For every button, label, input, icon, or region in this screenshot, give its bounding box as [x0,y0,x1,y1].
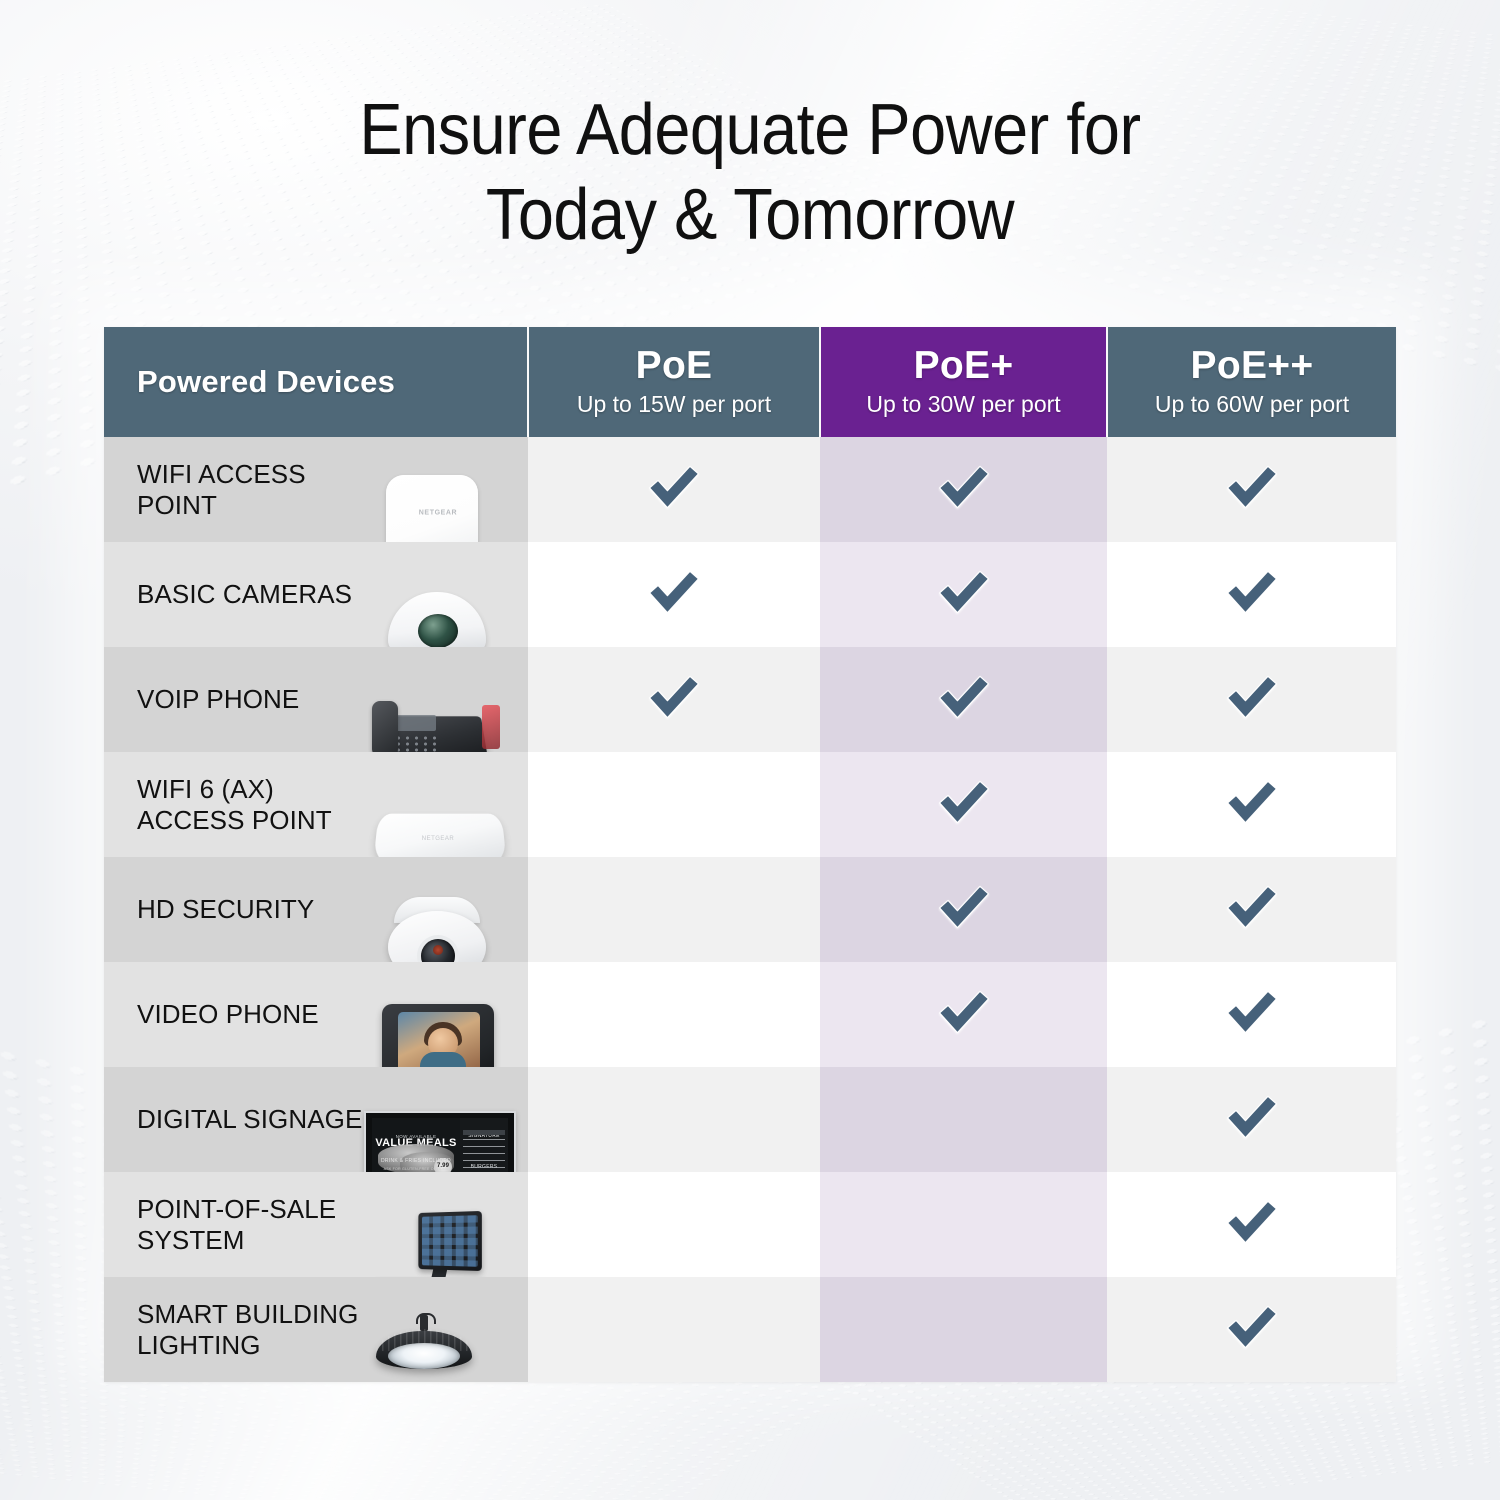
device-thumbnail: NETGEAR [358,757,518,853]
device-label: WIFI 6 (AX) ACCESS POINT [137,774,332,835]
netgear-logo-small: NETGEAR [422,824,455,855]
checkmark-icon [1222,1087,1282,1147]
device-label: VOIP PHONE [137,684,299,714]
checkmark-icon [1222,982,1282,1042]
column-header-poe-subtitle: Up to 15W per port [529,389,819,419]
device-thumbnail: NOW AVAILABLE VALUE MEALS 7.99 DRINK & F… [358,1072,518,1168]
device-label: SMART BUILDING LIGHTING [137,1299,359,1360]
column-header-powered-devices: Powered Devices [104,327,528,437]
checkmark-icon [934,667,994,727]
table-row: VOIP PHONE [104,647,1396,752]
support-cell-poepp [1107,962,1396,1067]
checkmark-icon [934,877,994,937]
support-cell-poeplus [820,1277,1107,1382]
support-cell-poe [528,857,820,962]
support-cell-poepp [1107,752,1396,857]
support-cell-poeplus [820,1067,1107,1172]
support-cell-poepp [1107,1172,1396,1277]
checkmark-icon [1222,667,1282,727]
checkmark-icon [1222,562,1282,622]
device-thumbnail [358,1282,518,1378]
column-header-poe-plusplus: PoE++ Up to 60W per port [1107,327,1396,437]
table-row: SMART BUILDING LIGHTING [104,1277,1396,1382]
checkmark-icon [1222,1297,1282,1357]
table-row: WIFI ACCESS POINT NETGEAR [104,437,1396,542]
device-label: WIFI ACCESS POINT [137,459,306,520]
device-thumbnail [358,862,518,958]
column-header-poe-title: PoE [529,345,819,387]
netgear-logo: NETGEAR [419,497,457,528]
poe-comparison-table: Powered Devices PoE Up to 15W per port P… [104,327,1396,1382]
device-label: POINT-OF-SALE SYSTEM [137,1194,336,1255]
column-header-poe-plusplus-subtitle: Up to 60W per port [1108,389,1396,419]
checkmark-icon [644,457,704,517]
table-header-row: Powered Devices PoE Up to 15W per port P… [104,327,1396,437]
device-thumbnail [358,547,518,643]
high-bay-light-icon [358,1313,518,1409]
table-body: WIFI ACCESS POINT NETGEAR BASIC CAMERAS … [104,437,1396,1382]
device-label: DIGITAL SIGNAGE [137,1104,362,1134]
checkmark-icon [1222,877,1282,937]
checkmark-icon [1222,772,1282,832]
support-cell-poepp [1107,1277,1396,1382]
support-cell-poeplus [820,752,1107,857]
device-name-cell: BASIC CAMERAS [104,542,528,647]
support-cell-poeplus [820,437,1107,542]
device-name-cell: WIFI 6 (AX) ACCESS POINT NETGEAR [104,752,528,857]
checkmark-icon [1222,457,1282,517]
checkmark-icon [644,667,704,727]
support-cell-poe [528,1067,820,1172]
device-thumbnail: NETGEAR [358,442,518,538]
device-name-cell: HD SECURITY [104,857,528,962]
device-name-cell: DIGITAL SIGNAGE NOW AVAILABLE VALUE MEAL… [104,1067,528,1172]
table-row: DIGITAL SIGNAGE NOW AVAILABLE VALUE MEAL… [104,1067,1396,1172]
checkmark-icon [1222,1192,1282,1252]
device-label: HD SECURITY [137,894,314,924]
support-cell-poe [528,752,820,857]
device-name-cell: POINT-OF-SALE SYSTEM [104,1172,528,1277]
support-cell-poepp [1107,1067,1396,1172]
device-thumbnail [358,967,518,1063]
support-cell-poepp [1107,437,1396,542]
page-title: Ensure Adequate Power for Today & Tomorr… [75,88,1425,258]
support-cell-poe [528,542,820,647]
device-name-cell: SMART BUILDING LIGHTING [104,1277,528,1382]
device-thumbnail [358,652,518,748]
checkmark-icon [934,772,994,832]
table-row: POINT-OF-SALE SYSTEM [104,1172,1396,1277]
support-cell-poeplus [820,962,1107,1067]
table-header: Powered Devices PoE Up to 15W per port P… [104,327,1396,437]
column-header-poe: PoE Up to 15W per port [528,327,820,437]
support-cell-poepp [1107,857,1396,962]
column-header-poe-plus-subtitle: Up to 30W per port [821,389,1106,419]
device-label: BASIC CAMERAS [137,579,352,609]
table-row: WIFI 6 (AX) ACCESS POINT NETGEAR [104,752,1396,857]
table-row: VIDEO PHONE [104,962,1396,1067]
device-label: VIDEO PHONE [137,999,319,1029]
device-name-cell: VIDEO PHONE [104,962,528,1067]
support-cell-poe [528,962,820,1067]
support-cell-poepp [1107,542,1396,647]
checkmark-icon [934,562,994,622]
table-row: HD SECURITY [104,857,1396,962]
support-cell-poe [528,437,820,542]
device-name-cell: WIFI ACCESS POINT NETGEAR [104,437,528,542]
column-header-poe-plus: PoE+ Up to 30W per port [820,327,1107,437]
support-cell-poeplus [820,542,1107,647]
column-header-poe-plusplus-title: PoE++ [1108,345,1396,387]
checkmark-icon [934,982,994,1042]
support-cell-poe [528,1277,820,1382]
table-row: BASIC CAMERAS [104,542,1396,647]
device-name-cell: VOIP PHONE [104,647,528,752]
support-cell-poe [528,647,820,752]
support-cell-poe [528,1172,820,1277]
checkmark-icon [934,457,994,517]
column-header-poe-plus-title: PoE+ [821,345,1106,387]
checkmark-icon [644,562,704,622]
support-cell-poepp [1107,647,1396,752]
support-cell-poeplus [820,857,1107,962]
support-cell-poeplus [820,1172,1107,1277]
device-thumbnail [358,1177,518,1273]
support-cell-poeplus [820,647,1107,752]
